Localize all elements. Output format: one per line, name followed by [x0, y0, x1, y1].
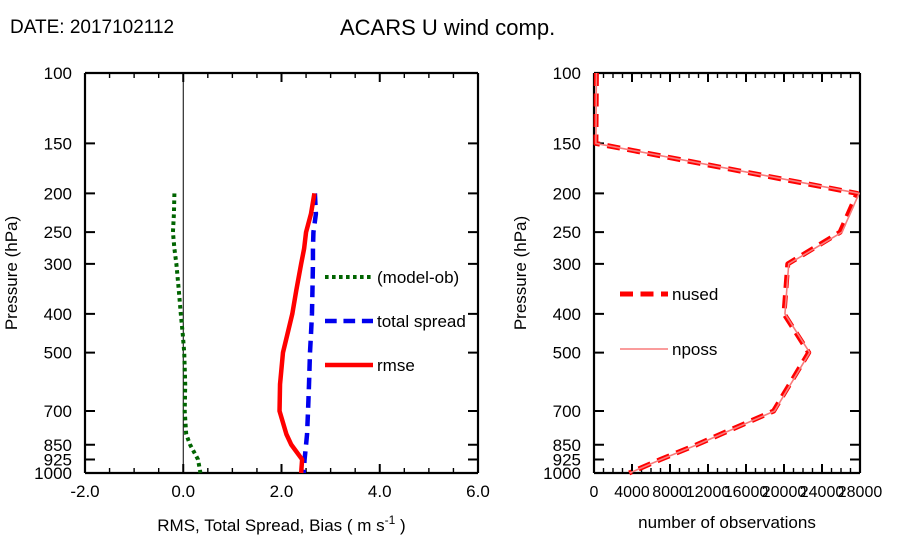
- panel-left: -2.00.02.04.06.0100150200250300400500700…: [2, 64, 490, 535]
- panel-right: 0400080001200016000200002400028000100150…: [511, 64, 882, 532]
- y-tick-label: 150: [44, 134, 72, 153]
- legend-item-nused: nused: [620, 285, 718, 304]
- x-tick-label: 28000: [838, 484, 883, 501]
- y-tick-label: 200: [44, 184, 72, 203]
- y-tick-label: 150: [553, 134, 581, 153]
- x-tick-label: 6.0: [466, 482, 490, 501]
- y-tick-label: 250: [44, 223, 72, 242]
- series-curve-nposs: [596, 73, 859, 473]
- y-tick-label: 100: [553, 64, 581, 83]
- x-tick-label: -2.0: [70, 482, 99, 501]
- x-axis-title: RMS, Total Spread, Bias ( m s-1 ): [157, 513, 405, 535]
- y-tick-label: 500: [44, 344, 72, 363]
- x-axis-title-main: RMS, Total Spread, Bias ( m s: [157, 516, 384, 535]
- y-tick-label: 500: [553, 344, 581, 363]
- y-tick-label: 1000: [34, 464, 72, 483]
- x-tick-label: 4000: [614, 484, 650, 501]
- legend-label: rmse: [377, 356, 415, 375]
- legend-item-nposs: nposs: [620, 340, 717, 359]
- y-tick-label: 200: [553, 184, 581, 203]
- legend-item-totalspread: total spread: [325, 312, 466, 331]
- y-tick-label: 100: [44, 64, 72, 83]
- plot-frame: [594, 73, 860, 473]
- y-tick-label: 400: [44, 305, 72, 324]
- x-tick-label: 2.0: [270, 482, 294, 501]
- legend-label: (model-ob): [377, 268, 459, 287]
- y-axis-title: Pressure (hPa): [2, 216, 21, 330]
- y-tick-label: 300: [44, 255, 72, 274]
- y-tick-label: 1000: [543, 464, 581, 483]
- legend-label: total spread: [377, 312, 466, 331]
- legend-label: nposs: [672, 340, 717, 359]
- x-axis-title-exponent: -1: [385, 513, 396, 527]
- legend-item-rmse: rmse: [325, 356, 415, 375]
- figure-root: DATE: 2017102112 ACARS U wind comp. -2.0…: [0, 0, 900, 560]
- x-axis-title: number of observations: [638, 513, 816, 532]
- x-tick-label: 8000: [652, 484, 688, 501]
- x-axis-title-tail: ): [395, 516, 405, 535]
- y-tick-label: 250: [553, 223, 581, 242]
- legend-item-modelob: (model-ob): [325, 268, 459, 287]
- legend-label: nused: [672, 285, 718, 304]
- x-tick-label: 0.0: [171, 482, 195, 501]
- y-tick-label: 300: [553, 255, 581, 274]
- plots-canvas: -2.00.02.04.06.0100150200250300400500700…: [0, 0, 900, 560]
- y-tick-label: 400: [553, 305, 581, 324]
- series-curve-modelob: [173, 193, 201, 473]
- y-tick-label: 700: [44, 402, 72, 421]
- x-tick-label: 4.0: [368, 482, 392, 501]
- series-curve-nused: [596, 73, 857, 473]
- y-axis-title: Pressure (hPa): [511, 216, 530, 330]
- y-tick-label: 700: [553, 402, 581, 421]
- x-tick-label: 0: [590, 484, 599, 501]
